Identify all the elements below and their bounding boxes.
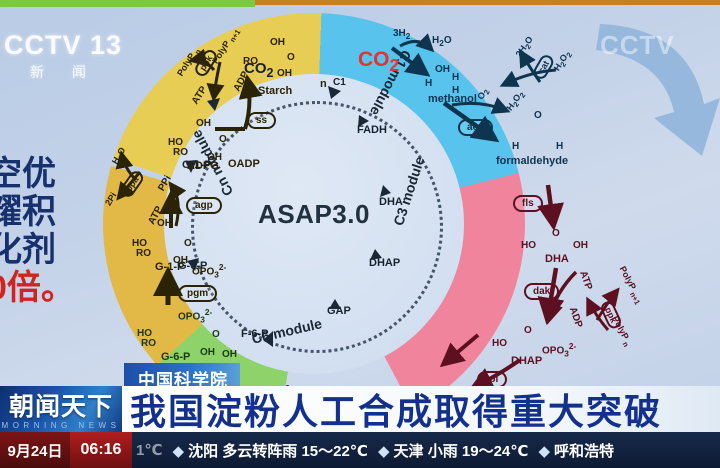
ticker-weather-item: 1℃ xyxy=(136,441,163,459)
adpg-ro: RO xyxy=(173,147,188,158)
channel-logo: CCTV 13 新 闻 xyxy=(4,30,122,82)
left-overlay-highlight: 0倍。 xyxy=(0,269,80,307)
left-overlay-line-3: 化剂 xyxy=(0,231,80,269)
ticker-temp: 19～24℃ xyxy=(462,443,529,460)
ticker-city: 天津 xyxy=(394,443,424,460)
methanol-oh-atom: OH xyxy=(435,64,450,75)
enzyme-aox: aox xyxy=(458,119,493,136)
left-overlay-line-1: 空优 xyxy=(0,155,80,193)
g6p-opo3: OPO32- xyxy=(178,307,212,324)
program-logo-cn: 朝闻天下 xyxy=(0,387,122,423)
g1p-molecule-label: G-1-P xyxy=(155,261,184,273)
ticker-temp: 1℃ xyxy=(136,442,163,459)
dha-molecule-label: DHA xyxy=(545,253,569,265)
h2o-byproduct-blue: H2O xyxy=(432,35,452,48)
starch-oh-top: OH xyxy=(270,37,285,48)
starch-n-subscript: n xyxy=(320,78,327,90)
ticker-city: 沈阳 xyxy=(188,443,218,460)
enzyme-dak: dak xyxy=(524,283,559,300)
formaldehyde-o-atom: O xyxy=(534,110,542,121)
ticker-condition: 小雨 xyxy=(428,443,458,460)
polyp-n1-pink: PolyP n+1 xyxy=(615,265,645,307)
oadp-label: OADP xyxy=(228,158,260,170)
starch-label: Starch xyxy=(258,85,292,97)
headline-text: 我国淀粉人工合成取得重大突破 xyxy=(130,383,662,435)
dha-oh: OH xyxy=(573,240,588,251)
top-strip-green xyxy=(0,0,255,7)
adpg-o-ring: O xyxy=(219,134,227,145)
g1p-opo3: OPO32- xyxy=(192,262,226,279)
enzyme-agp: agp xyxy=(186,197,222,214)
ticker-weather-item: ◆沈阳 多云转阵雨 15～22℃ xyxy=(173,440,368,461)
dha-ho: HO xyxy=(521,240,536,251)
ticker-bullet-icon: ◆ xyxy=(538,443,550,460)
g1p-oh-top: OH xyxy=(157,218,172,229)
dhap-o-atom: O xyxy=(524,325,532,336)
g1p-o-ring: O xyxy=(184,238,192,249)
ticker-time: 06:16 xyxy=(70,432,132,468)
ticker-temp: 15～22℃ xyxy=(301,443,368,460)
ticker-weather-item: ◆天津 小雨 19～24℃ xyxy=(378,440,528,461)
left-overlay-line-2: 耀积 xyxy=(0,193,80,231)
program-logo-en: MORNING NEWS xyxy=(0,421,122,430)
dha-o-atom: O xyxy=(552,228,560,239)
g6p-ro: RO xyxy=(141,338,156,349)
enzyme-pgm: pgm xyxy=(178,285,217,302)
channel-logo-text: CCTV 13 xyxy=(4,30,122,61)
g6p-oh2: OH xyxy=(222,349,237,360)
starch-o-ring: O xyxy=(287,52,295,63)
adpg-label: ADPG xyxy=(187,160,219,172)
h2o2-input: H2O2 xyxy=(552,49,574,74)
adp-pink: ADP xyxy=(567,306,585,330)
lower-third-headline: 我国淀粉人工合成取得重大突破 xyxy=(118,386,720,432)
g6p-molecule-label: G-6-P xyxy=(161,351,190,363)
formaldehyde-h-left: H xyxy=(512,141,519,152)
enzyme-ss: ss xyxy=(247,112,276,129)
methanol-label: methanol xyxy=(428,93,477,105)
news-ticker: 9月24日 06:16 1℃◆沈阳 多云转阵雨 15～22℃◆天津 小雨 19～… xyxy=(0,432,720,468)
ticker-date: 9月24日 xyxy=(0,432,70,468)
ticker-city: 呼和浩特 xyxy=(554,443,614,460)
ticker-weather-list: 1℃◆沈阳 多云转阵雨 15～22℃◆天津 小雨 19～24℃◆呼和浩特 xyxy=(132,432,720,468)
broadcast-screen: ASAP3.0 C1 module C3 module C6 module Cn… xyxy=(0,0,720,468)
cctv-watermark: CCTV xyxy=(600,30,675,61)
channel-logo-sub: 新 闻 xyxy=(30,62,122,82)
g1p-ro: RO xyxy=(136,248,151,259)
ticker-bullet-icon: ◆ xyxy=(378,443,390,460)
methanol-h-left: H xyxy=(425,78,432,89)
ticker-weather-item: ◆呼和浩特 xyxy=(538,440,614,461)
program-logo: 朝闻天下 MORNING NEWS xyxy=(0,386,122,432)
ticker-bullet-icon: ◆ xyxy=(173,443,185,460)
dhap-ho: HO xyxy=(492,338,507,349)
g6p-o-ring: O xyxy=(212,329,220,340)
starch-ro: RO xyxy=(243,56,258,67)
atp-pink: ATP xyxy=(577,270,594,292)
co2-input-label: CO2 xyxy=(358,48,399,76)
h2-input-label: 3H2 xyxy=(393,28,410,41)
ticker-condition: 多云转阵雨 xyxy=(222,443,297,460)
g6p-oh1: OH xyxy=(200,347,215,358)
formaldehyde-label: formaldehyde xyxy=(496,155,568,167)
top-color-strip xyxy=(0,0,720,7)
left-overlay-text: 空优 耀积 化剂 0倍。 xyxy=(0,155,80,307)
formaldehyde-h-right: H xyxy=(556,141,563,152)
starch-oh-bottom: OH xyxy=(277,68,292,79)
enzyme-fls: fls xyxy=(513,195,543,212)
polyp-n-pink: PolyP n xyxy=(608,314,634,348)
dhap-opo3: OPO32- xyxy=(542,341,576,358)
top-strip-orange xyxy=(255,0,720,5)
dhap-molecule-label: DHAP xyxy=(511,355,542,367)
adpg-oh: OH xyxy=(196,118,211,129)
